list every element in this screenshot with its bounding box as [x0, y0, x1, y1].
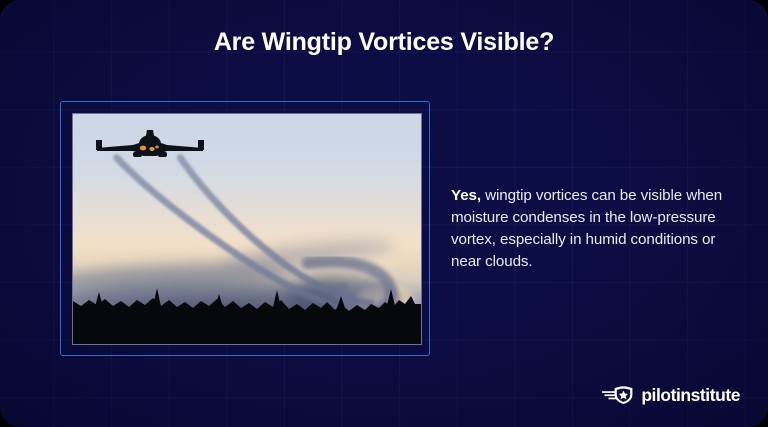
vortex-photo — [73, 114, 421, 344]
brand-logo: pilotinstitute — [602, 385, 740, 405]
aircraft-silhouette — [95, 128, 205, 170]
logo-text: pilotinstitute — [641, 385, 740, 405]
body-text-lead: Yes, — [451, 187, 481, 204]
slide-card: Are Wingtip Vortices Visible? — [0, 0, 768, 427]
body-text: Yes, wingtip vortices can be visible whe… — [451, 185, 739, 273]
photo-container — [72, 113, 422, 345]
winged-shield-star-icon — [602, 385, 634, 405]
treeline-silhouette — [73, 274, 421, 344]
page-title: Are Wingtip Vortices Visible? — [0, 27, 768, 57]
body-text-rest: wingtip vortices can be visible when moi… — [451, 187, 722, 270]
